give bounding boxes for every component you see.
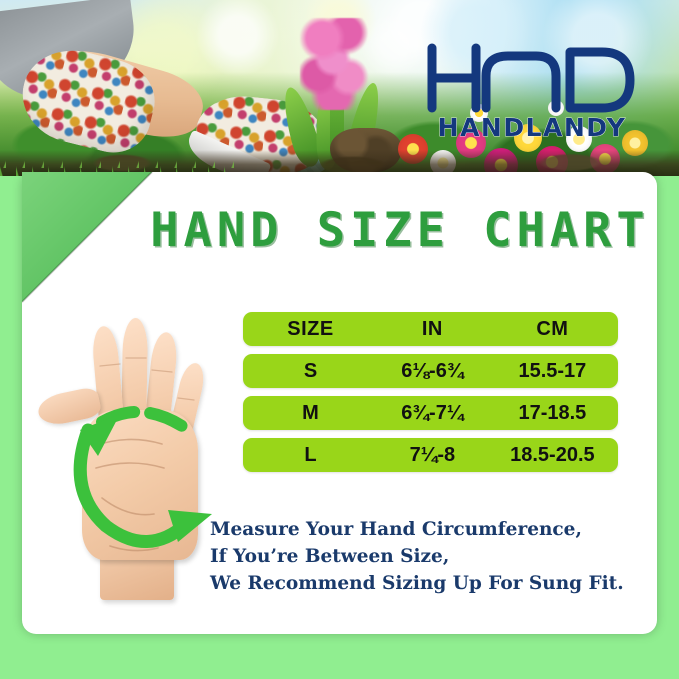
measuring-instructions: Measure Your Hand Circumference, If You’…	[210, 516, 640, 597]
banner-grass	[0, 120, 240, 176]
column-header-size: SIZE	[243, 318, 378, 341]
column-header-cm: CM	[487, 318, 618, 341]
cell-inches: 6⅛-6¾	[378, 360, 487, 383]
page-title: HAND SIZE CHART	[150, 203, 650, 258]
logo-wordmark: HANDLANDY	[438, 113, 627, 142]
handlandy-logo[interactable]: HANDLANDY	[424, 38, 640, 142]
size-table: SIZE IN CM S 6⅛-6¾ 15.5-17 M 6¾-7¼ 17-18…	[243, 312, 618, 480]
circumference-measure-arrow	[36, 318, 222, 600]
cell-inches: 7¼-8	[378, 444, 487, 467]
table-header-row: SIZE IN CM	[243, 312, 618, 346]
cell-size: L	[243, 444, 378, 467]
instruction-line-3: We Recommend Sizing Up For Sung Fit.	[210, 570, 640, 597]
pink-hyacinth-flower	[300, 18, 374, 110]
cell-inches: 6¾-7¼	[378, 402, 487, 425]
table-row: S 6⅛-6¾ 15.5-17	[243, 354, 618, 388]
table-row: L 7¼-8 18.5-20.5	[243, 438, 618, 472]
cell-centimeters: 17-18.5	[487, 402, 618, 425]
cell-centimeters: 15.5-17	[487, 360, 618, 383]
cell-size: S	[243, 360, 378, 383]
instruction-line-2: If You’re Between Size,	[210, 543, 640, 570]
instruction-line-1: Measure Your Hand Circumference,	[210, 516, 640, 543]
table-row: M 6¾-7¼ 17-18.5	[243, 396, 618, 430]
column-header-in: IN	[378, 318, 487, 341]
hand-illustration	[36, 318, 222, 600]
cell-centimeters: 18.5-20.5	[487, 444, 618, 467]
cell-size: M	[243, 402, 378, 425]
hand-size-chart-page: HANDLANDY HAND SIZE CHART	[0, 0, 679, 679]
